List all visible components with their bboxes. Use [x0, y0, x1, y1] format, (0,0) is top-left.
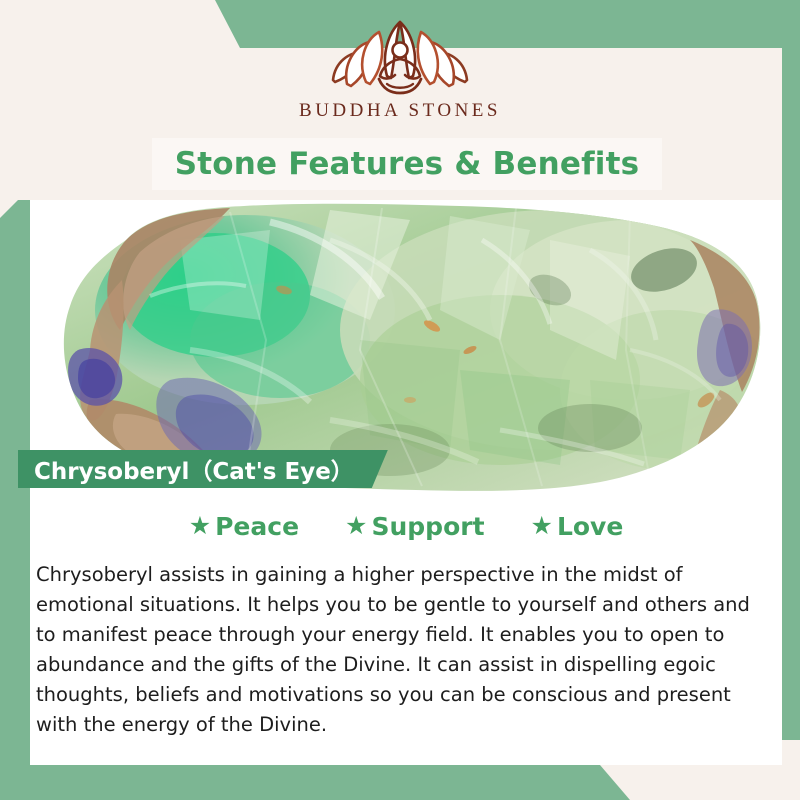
stone-photo-graphic	[30, 200, 782, 492]
star-icon: ★	[345, 514, 367, 539]
star-icon: ★	[189, 514, 211, 539]
title-banner: Stone Features & Benefits	[152, 138, 662, 190]
page-title: Stone Features & Benefits	[175, 146, 640, 182]
stone-benefits-poster: BUDDHA STONES Stone Features & Benefits	[0, 0, 800, 800]
frame-band-bottom	[0, 765, 630, 800]
stone-name-label: Chrysoberyl（Cat's Eye）	[18, 450, 388, 488]
benefit-item-support: ★ Support	[345, 512, 484, 541]
stone-name-text: Chrysoberyl（Cat's Eye）	[34, 452, 354, 486]
brand-name: BUDDHA STONES	[299, 100, 501, 122]
benefit-item-love: ★ Love	[531, 512, 624, 541]
star-icon: ★	[531, 514, 553, 539]
frame-band-left	[0, 200, 30, 800]
benefit-label-love: Love	[557, 512, 623, 541]
benefits-row: ★ Peace ★ Support ★ Love	[30, 512, 782, 541]
benefit-item-peace: ★ Peace	[189, 512, 299, 541]
benefit-label-peace: Peace	[215, 512, 299, 541]
stone-photo	[30, 200, 782, 492]
stone-description: Chrysoberyl assists in gaining a higher …	[36, 560, 766, 740]
benefit-label-support: Support	[371, 512, 484, 541]
lotus-meditation-icon	[325, 18, 475, 96]
